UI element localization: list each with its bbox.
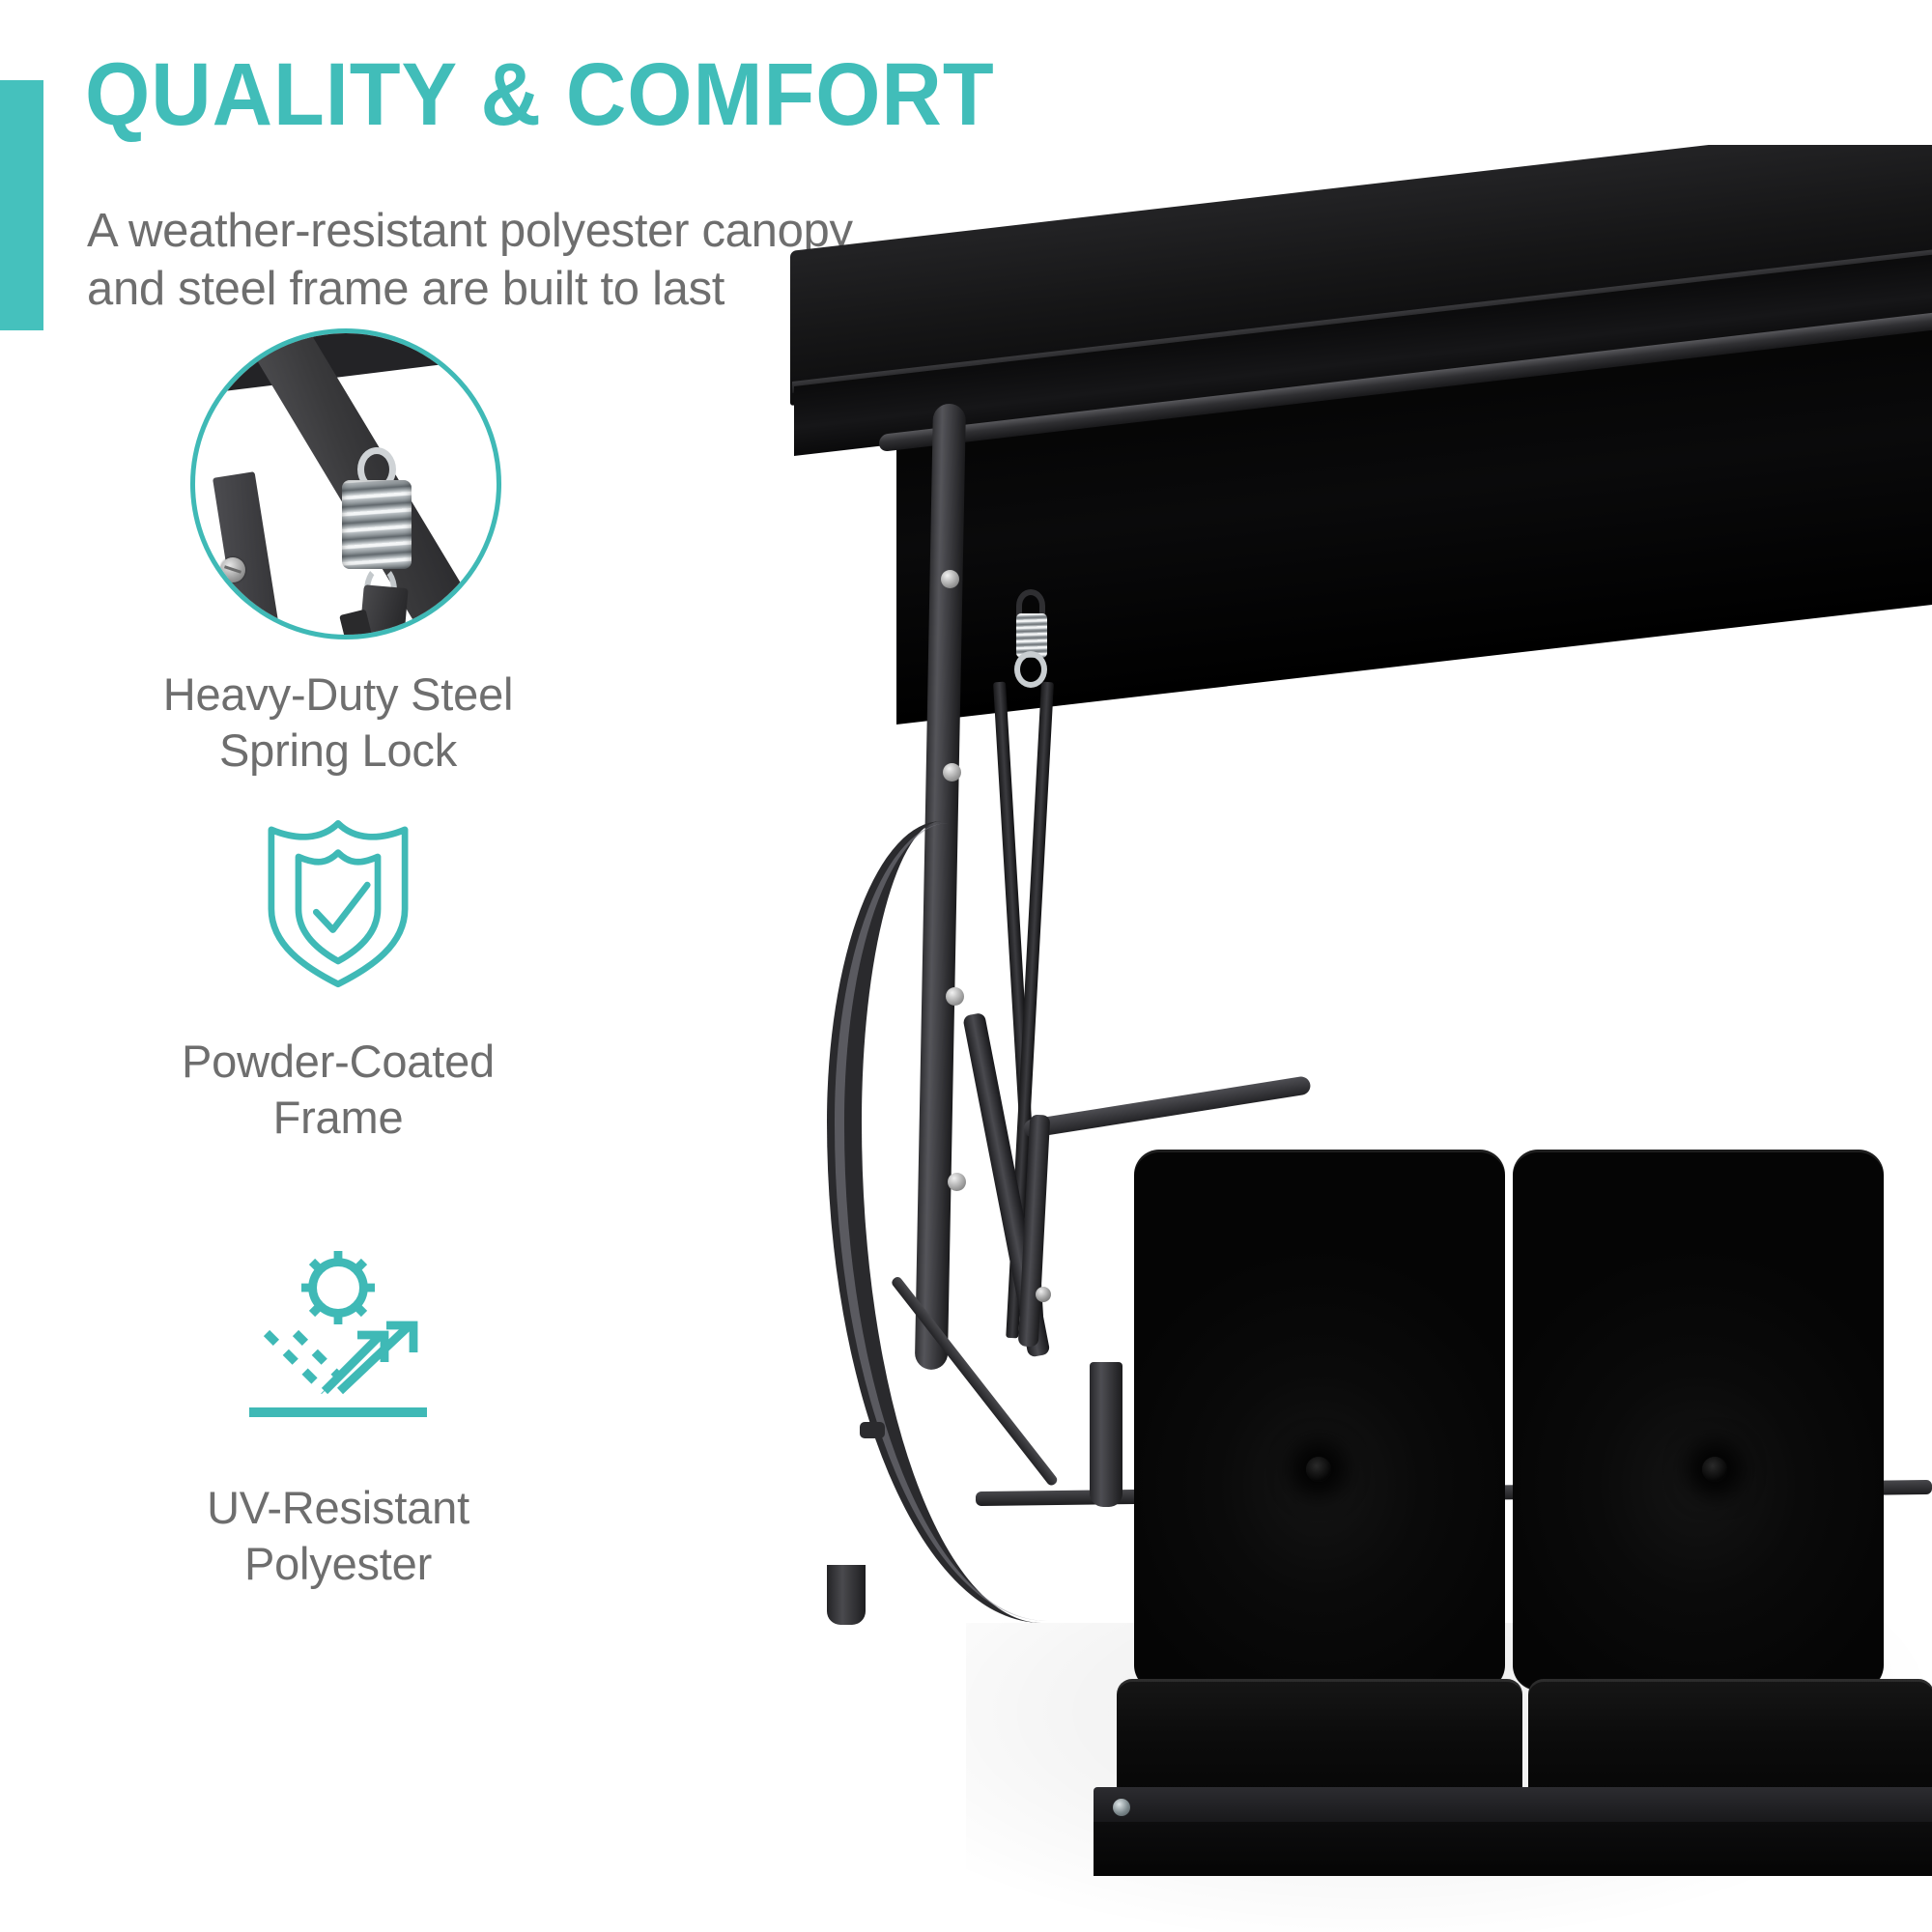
cushion-tuft-button <box>1306 1457 1331 1482</box>
feature-spring-lock: Heavy-Duty Steel Spring Lock <box>0 319 676 734</box>
frame-screw <box>220 557 245 582</box>
shield-check-icon <box>234 792 442 1001</box>
uv-resistant-icon <box>234 1248 442 1441</box>
frame-leg-foot <box>827 1565 866 1625</box>
frame-short-post <box>1090 1362 1122 1507</box>
frame-plate-top <box>190 328 501 398</box>
spring-lock-photo <box>195 333 497 635</box>
armrest-bolt <box>1036 1287 1051 1302</box>
seat-frame-skirt <box>1094 1822 1932 1876</box>
shield-icon-wrap <box>0 792 676 1001</box>
frame-lower-arm <box>213 471 288 639</box>
feature-caption-spring-lock: Heavy-Duty Steel Spring Lock <box>0 667 676 780</box>
caption-line-1: Powder-Coated <box>0 1034 676 1090</box>
accent-bar <box>0 80 43 330</box>
caption-line-2: Polyester <box>0 1536 676 1592</box>
spring-lock-photo-inset <box>190 328 501 639</box>
leg-adjuster-knob <box>860 1422 885 1438</box>
feature-powder-coated: Powder-Coated Frame <box>0 792 676 1198</box>
back-cushion-right <box>1513 1150 1884 1690</box>
feature-uv-resistant: UV-Resistant Polyester <box>0 1248 676 1654</box>
page-title: QUALITY & COMFORT <box>85 50 995 139</box>
product-photo-porch-swing <box>734 145 1932 1932</box>
steel-spring-coil <box>342 480 412 569</box>
seat-cushion-left <box>1117 1679 1522 1803</box>
feature-list: Heavy-Duty Steel Spring Lock Powder-Coat… <box>0 319 676 1654</box>
caption-line-1: UV-Resistant <box>0 1480 676 1536</box>
seat-cushion-right <box>1528 1679 1932 1803</box>
uv-icon-wrap <box>0 1248 676 1441</box>
feature-caption-powder-coated: Powder-Coated Frame <box>0 1034 676 1147</box>
cushion-tuft-button <box>1702 1457 1727 1482</box>
seat-armrest <box>1023 1075 1312 1139</box>
post-bolt <box>941 570 959 588</box>
seat-frame-bolt <box>1113 1799 1130 1816</box>
feature-caption-uv-resistant: UV-Resistant Polyester <box>0 1480 676 1593</box>
caption-line-2: Frame <box>0 1090 676 1146</box>
caption-line-1: Heavy-Duty Steel <box>0 667 676 723</box>
back-cushion-left <box>1134 1150 1505 1690</box>
post-bolt <box>943 763 961 781</box>
caption-line-2: Spring Lock <box>0 723 676 779</box>
